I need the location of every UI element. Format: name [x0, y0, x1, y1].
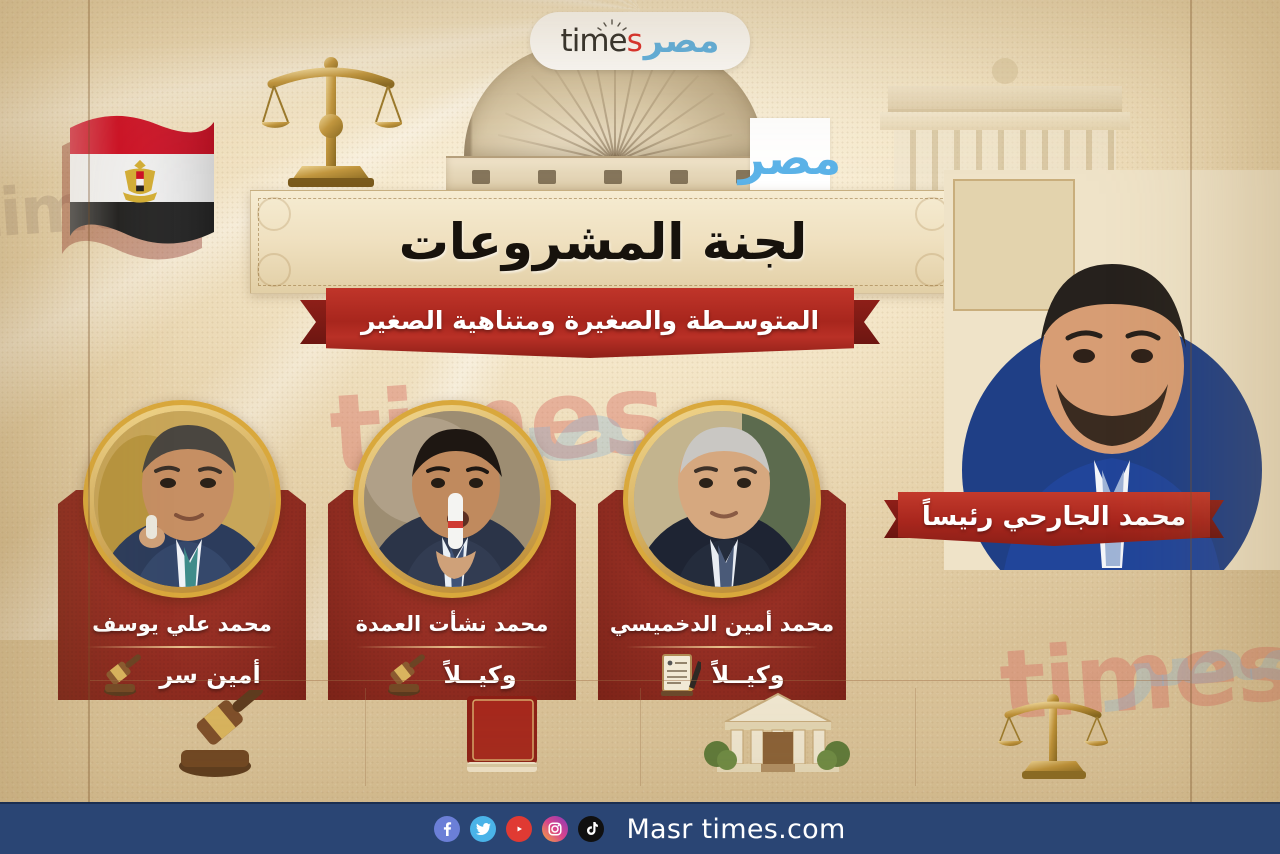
sparkle-icon — [592, 18, 632, 36]
tiktok-icon[interactable] — [578, 816, 604, 842]
member-name: محمد نشأت العمدة — [338, 612, 566, 636]
right-rule — [1190, 0, 1192, 802]
member-photo-frame — [83, 400, 281, 598]
member-name: محمد علي يوسف — [68, 612, 296, 636]
egypt-flag-icon — [52, 100, 218, 285]
left-rule — [88, 0, 90, 802]
member-photo — [364, 411, 540, 587]
member-card[interactable]: محمد أمين الدخميسي وكيــلاً — [598, 400, 846, 700]
decor-cell — [640, 680, 915, 790]
scales-of-justice-icon — [998, 689, 1108, 781]
member-divider — [356, 646, 548, 648]
member-card[interactable]: محمد علي يوسف أمين سر — [58, 400, 306, 700]
law-book-icon — [457, 692, 549, 778]
page-title: لجنة المشروعات — [251, 191, 955, 293]
decor-cell — [90, 680, 365, 790]
chairman-name: محمد الجارحي رئيساً — [922, 502, 1186, 537]
footer-site-name[interactable]: Masr times.com — [626, 814, 845, 845]
decor-cell — [915, 680, 1190, 790]
decorative-icon-strip — [90, 680, 1190, 790]
decor-cell — [365, 680, 640, 790]
member-card[interactable]: محمد نشأت العمدة وكيــلاً — [328, 400, 576, 700]
member-divider — [626, 646, 818, 648]
page-subtitle: المتوسـطة والصغيرة ومتناهية الصغير — [361, 306, 819, 341]
title-banner: لجنة المشروعات — [250, 190, 956, 294]
member-name: محمد أمين الدخميسي — [608, 612, 836, 636]
infographic-poster: times times times مصر مصر — [0, 0, 1280, 854]
gavel-icon — [173, 690, 283, 780]
member-photo-frame — [353, 400, 551, 598]
member-photo — [634, 411, 810, 587]
member-divider — [86, 646, 278, 648]
courthouse-icon — [703, 692, 853, 778]
twitter-icon[interactable] — [470, 816, 496, 842]
badge-arabic-mark: مصر — [739, 131, 841, 185]
subtitle-ribbon: المتوسـطة والصغيرة ومتناهية الصغير — [300, 288, 880, 364]
brand-arabic-mark: مصر — [644, 21, 720, 61]
chairman-name-ribbon: محمد الجارحي رئيساً — [884, 492, 1224, 554]
instagram-icon[interactable] — [542, 816, 568, 842]
scales-of-justice-icon — [262, 48, 402, 198]
footer-bar: Masr times.com — [0, 802, 1280, 854]
member-photo — [94, 411, 270, 587]
brand-badge-square[interactable]: مصر — [750, 118, 830, 198]
youtube-icon[interactable] — [506, 816, 532, 842]
member-photo-frame — [623, 400, 821, 598]
brand-logo-pill[interactable]: times مصر — [530, 12, 750, 70]
facebook-icon[interactable] — [434, 816, 460, 842]
